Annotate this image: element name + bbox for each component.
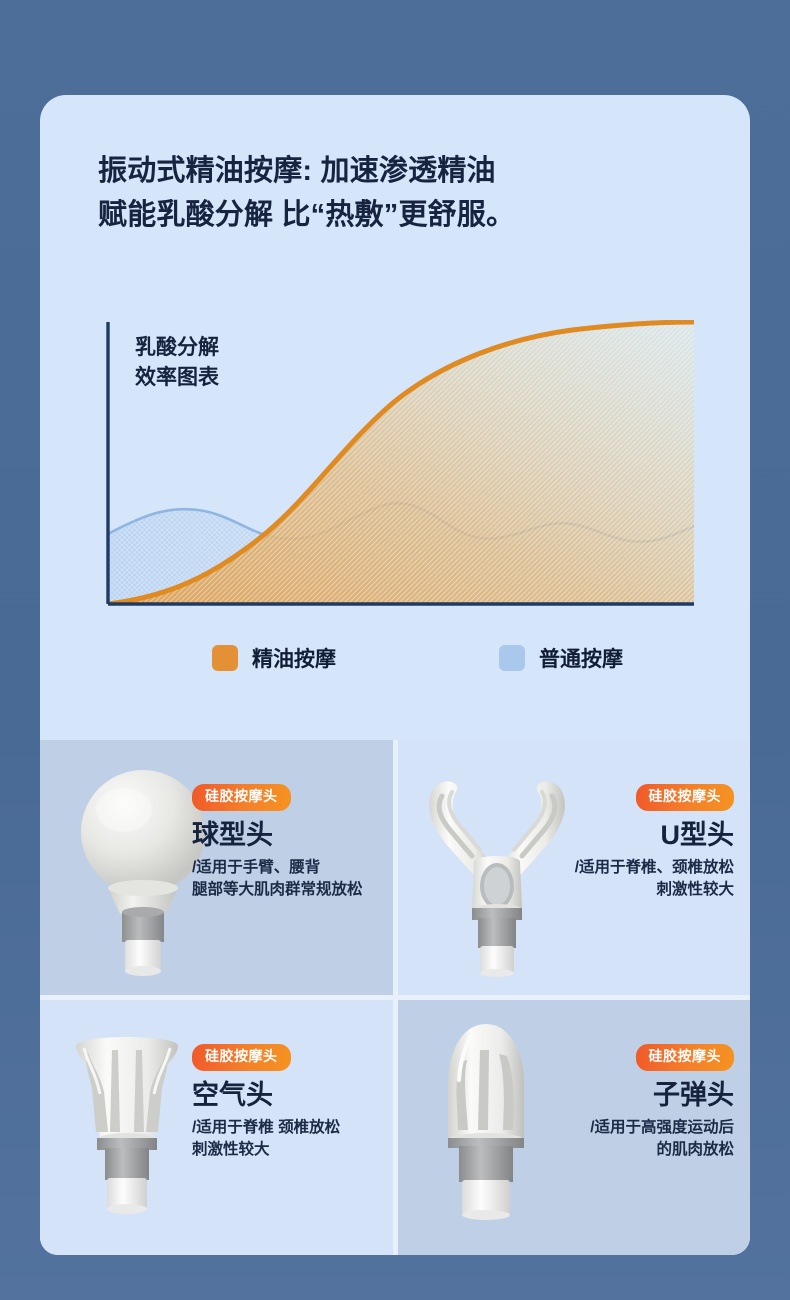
bullet-head-icon: [426, 1018, 546, 1228]
ball-head-icon: [78, 762, 208, 977]
legend-label-ordinary: 普通按摩: [539, 643, 623, 673]
headline-line2: 赋能乳酸分解 比“热敷”更舒服。: [98, 199, 515, 231]
product-info-air-head: 硅胶按摩头 空气头 /适用于脊椎 颈椎放松 刺激性较大: [192, 1044, 340, 1161]
product-desc-ball-head: /适用于手臂、腰背 腿部等大肌肉群常规放松: [192, 857, 363, 901]
badge-silicone-head-1: 硅胶按摩头: [192, 784, 291, 811]
product-desc-air-head: /适用于脊椎 颈椎放松 刺激性较大: [192, 1117, 340, 1161]
product-cell-bullet-head[interactable]: 硅胶按摩头 子弹头 /适用于高强度运动后 的肌肉放松: [398, 1000, 751, 1255]
product-desc-bullet-head: /适用于高强度运动后 的肌肉放松: [590, 1117, 734, 1161]
product-desc-u-shape-head: /适用于脊椎、颈椎放松 刺激性较大: [575, 857, 734, 901]
chart-legend: 精油按摩 普通按摩: [102, 643, 694, 673]
headline-rest: 加速渗透精油: [312, 155, 495, 187]
air-head-icon: [62, 1022, 192, 1227]
badge-silicone-head-4: 硅胶按摩头: [636, 1044, 735, 1071]
product-title-air-head: 空气头: [192, 1079, 340, 1111]
badge-silicone-head-3: 硅胶按摩头: [192, 1044, 291, 1071]
legend-item-oil-massage: 精油按摩: [212, 643, 336, 673]
product-cell-ball-head[interactable]: 硅胶按摩头 球型头 /适用于手臂、腰背 腿部等大肌肉群常规放松: [40, 740, 393, 995]
headline-accent: 振动式精油按摩:: [98, 155, 312, 187]
product-info-ball-head: 硅胶按摩头 球型头 /适用于手臂、腰背 腿部等大肌肉群常规放松: [192, 784, 363, 901]
product-info-bullet-head: 硅胶按摩头 子弹头 /适用于高强度运动后 的肌肉放松: [590, 1044, 734, 1161]
product-title-bullet-head: 子弹头: [590, 1079, 734, 1111]
product-detail-page: 振动式精油按摩: 加速渗透精油 赋能乳酸分解 比“热敷”更舒服。: [0, 0, 790, 1300]
legend-item-ordinary-massage: 普通按摩: [499, 643, 623, 673]
legend-swatch-icon-oil: [212, 645, 238, 671]
page-title: 振动式精油按摩: 加速渗透精油 赋能乳酸分解 比“热敷”更舒服。: [98, 149, 698, 237]
badge-silicone-head-2: 硅胶按摩头: [636, 784, 735, 811]
legend-label-oil: 精油按摩: [252, 643, 336, 673]
u-shape-head-icon: [422, 758, 572, 978]
massage-head-grid: 硅胶按摩头 球型头 /适用于手臂、腰背 腿部等大肌肉群常规放松: [40, 740, 750, 1255]
legend-swatch-icon-ordinary: [499, 645, 525, 671]
product-title-u-shape-head: U型头: [575, 819, 734, 851]
product-cell-u-shape-head[interactable]: 硅胶按摩头 U型头 /适用于脊椎、颈椎放松 刺激性较大: [398, 740, 751, 995]
product-title-ball-head: 球型头: [192, 819, 363, 851]
content-card: 振动式精油按摩: 加速渗透精油 赋能乳酸分解 比“热敷”更舒服。: [40, 95, 750, 1255]
product-info-u-shape-head: 硅胶按摩头 U型头 /适用于脊椎、颈椎放松 刺激性较大: [575, 784, 734, 901]
product-cell-air-head[interactable]: 硅胶按摩头 空气头 /适用于脊椎 颈椎放松 刺激性较大: [40, 1000, 393, 1255]
chart-title: 乳酸分解 效率图表: [135, 333, 219, 393]
